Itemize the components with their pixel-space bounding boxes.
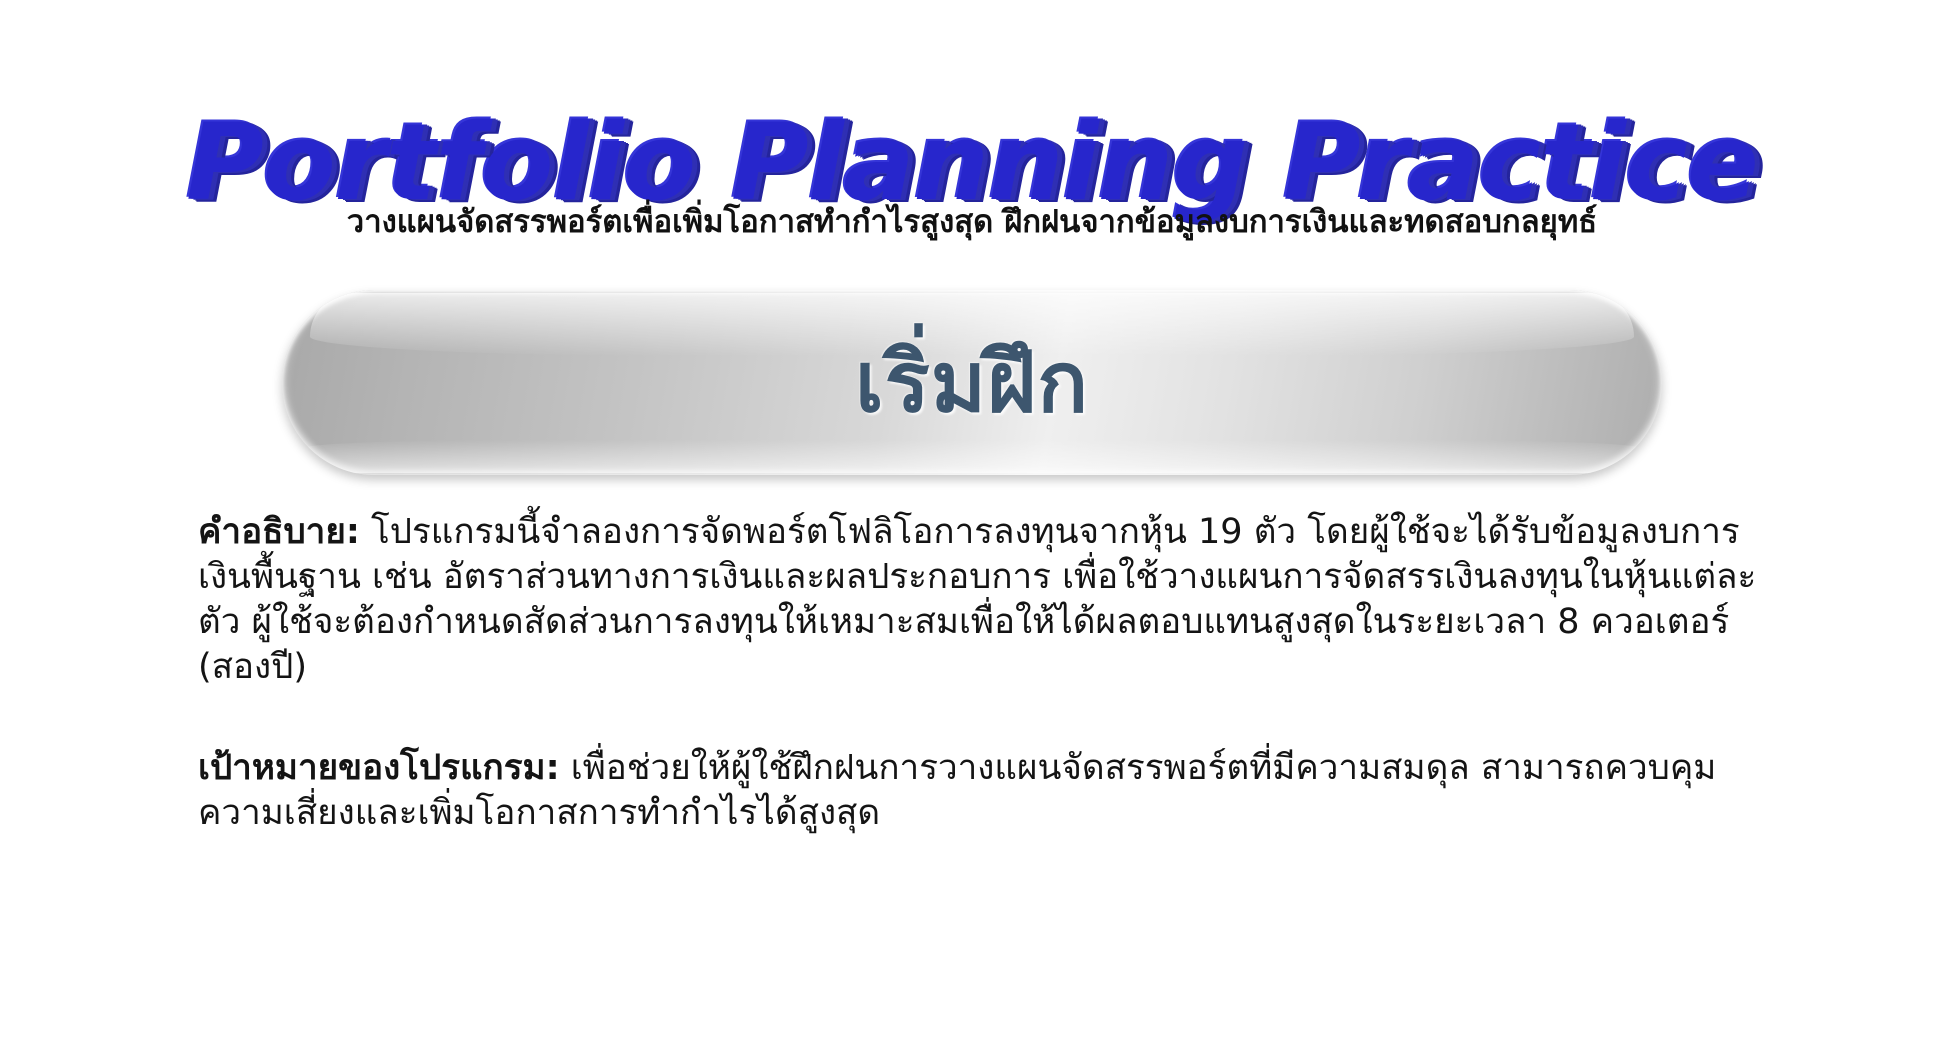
- body-copy: คำอธิบาย: โปรแกรมนี้จำลองการจัดพอร์ตโฟลิ…: [198, 510, 1758, 836]
- page-subtitle: วางแผนจัดสรรพอร์ตเพื่อเพิ่มโอกาสทำกำไรสู…: [347, 196, 1597, 246]
- start-button-label: เริ่มฝึก: [855, 336, 1089, 428]
- start-button-row: เริ่มฝึก: [0, 290, 1944, 475]
- title-container: Portfolio Planning Practice: [0, 36, 1944, 156]
- description-text: โปรแกรมนี้จำลองการจัดพอร์ตโฟลิโอการลงทุน…: [198, 512, 1756, 687]
- goal-lead-label: เป้าหมายของโปรแกรม:: [198, 748, 560, 788]
- description-lead-label: คำอธิบาย:: [198, 512, 360, 552]
- page-root: Portfolio Planning Practice วางแผนจัดสรร…: [0, 0, 1944, 1037]
- description-paragraph: คำอธิบาย: โปรแกรมนี้จำลองการจัดพอร์ตโฟลิ…: [198, 510, 1758, 690]
- start-practice-button[interactable]: เริ่มฝึก: [282, 290, 1662, 475]
- subtitle-container: วางแผนจัดสรรพอร์ตเพื่อเพิ่มโอกาสทำกำไรสู…: [0, 196, 1944, 246]
- goal-paragraph: เป้าหมายของโปรแกรม: เพื่อช่วยให้ผู้ใช้ฝึ…: [198, 746, 1758, 836]
